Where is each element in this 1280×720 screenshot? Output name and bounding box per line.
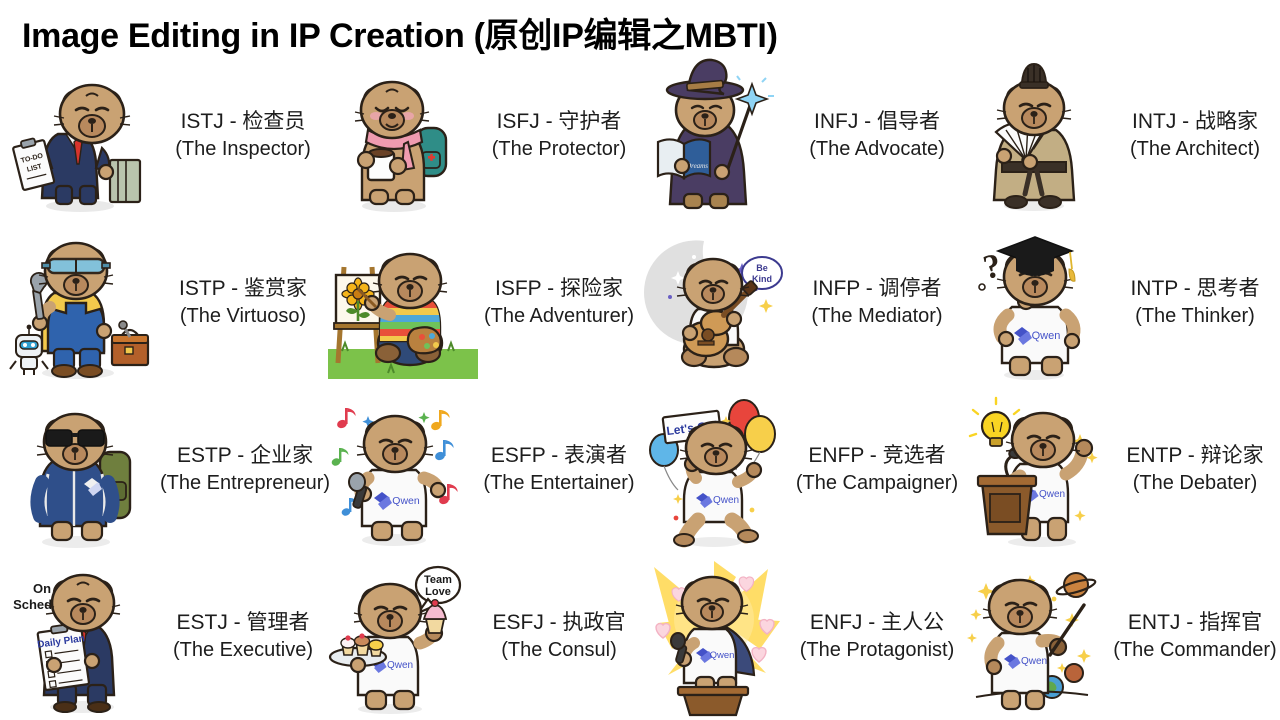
svg-text:?: ? [980, 247, 1004, 287]
svg-text:On: On [33, 581, 51, 596]
card-caption-enfp: ENFP - 竞选者 (The Campaigner) [794, 442, 960, 496]
caption-line-1: INFJ - 倡导者 [794, 108, 960, 136]
scholar-hat-icon [1020, 64, 1048, 88]
svg-text:Qwen: Qwen [710, 650, 735, 661]
card-caption-infp: INFP - 调停者 (The Mediator) [794, 275, 960, 329]
mbti-card-estp[interactable]: ESTP - 企业家 (The Entrepreneur) [0, 386, 320, 553]
wizard-hat-icon [667, 59, 743, 98]
character-art-infp: Be Kind [648, 223, 798, 383]
caption-line-2: (The Mediator) [794, 303, 960, 329]
character-art-estp [8, 390, 158, 550]
character-art-enfj: Qwen [648, 557, 798, 717]
caption-line-2: (The Thinker) [1112, 303, 1278, 329]
question-mark-icon: ? [979, 247, 1004, 290]
card-caption-estp: ESTP - 企业家 (The Entrepreneur) [160, 442, 330, 496]
caption-line-2: (The Protector) [476, 136, 642, 162]
mbti-card-infp[interactable]: Be Kind [640, 219, 960, 386]
card-caption-entj: ENTJ - 指挥官 (The Commander) [1112, 609, 1278, 663]
character-art-intp: ? Qwen [968, 223, 1118, 383]
caption-line-1: ISTJ - 检查员 [160, 108, 326, 136]
mbti-card-istj[interactable]: TO-DO LIST [0, 52, 320, 219]
card-caption-enfj: ENFJ - 主人公 (The Protagonist) [794, 609, 960, 663]
svg-text:Be: Be [756, 263, 768, 273]
card-caption-infj: INFJ - 倡导者 (The Advocate) [794, 108, 960, 162]
card-caption-estj: ESTJ - 管理者 (The Executive) [160, 609, 326, 663]
caption-line-1: INTJ - 战略家 [1112, 108, 1278, 136]
caption-line-2: (The Entertainer) [476, 470, 642, 496]
caption-line-2: (The Protagonist) [794, 637, 960, 663]
caption-line-1: ISFP - 探险家 [476, 275, 642, 303]
caption-line-2: (The Advocate) [794, 136, 960, 162]
card-caption-isfp: ISFP - 探险家 (The Adventurer) [476, 275, 642, 329]
character-art-entj: Qwen [968, 557, 1118, 717]
mbti-card-intj[interactable]: INTJ - 战略家 (The Architect) [960, 52, 1280, 219]
caption-line-2: (The Campaigner) [794, 470, 960, 496]
caption-line-2: (The Debater) [1112, 470, 1278, 496]
poster-root: Image Editing in IP Creation (原创IP编辑之MBT… [0, 0, 1280, 720]
mbti-card-isfj[interactable]: ISFJ - 守护者 (The Protector) [320, 52, 640, 219]
svg-text:Qwen: Qwen [1039, 489, 1065, 500]
character-art-entp: Qwen [968, 390, 1118, 550]
podium-icon [978, 476, 1036, 534]
mbti-grid: TO-DO LIST [0, 52, 1280, 720]
card-caption-isfj: ISFJ - 守护者 (The Protector) [476, 108, 642, 162]
caption-line-1: INFP - 调停者 [794, 275, 960, 303]
mbti-card-enfj[interactable]: Qwen [640, 553, 960, 720]
mbti-card-istp[interactable]: ISTP - 鉴赏家 (The Virtuoso) [0, 219, 320, 386]
svg-text:Qwen: Qwen [1032, 330, 1061, 342]
caption-line-2: (The Entrepreneur) [160, 470, 330, 496]
caption-line-1: ENTJ - 指挥官 [1112, 609, 1278, 637]
card-caption-esfp: ESFP - 表演者 (The Entertainer) [476, 442, 642, 496]
caption-line-2: (The Consul) [476, 637, 642, 663]
caption-line-1: ESTJ - 管理者 [160, 609, 326, 637]
svg-text:Kind: Kind [752, 274, 772, 284]
character-art-istj: TO-DO LIST [8, 56, 158, 216]
card-caption-esfj: ESFJ - 执政官 (The Consul) [476, 609, 642, 663]
caption-line-1: ESFP - 表演者 [476, 442, 642, 470]
character-art-estj: On Schedule Daily Plan [8, 557, 158, 717]
card-caption-intj: INTJ - 战略家 (The Architect) [1112, 108, 1278, 162]
caption-line-2: (The Architect) [1112, 136, 1278, 162]
safety-goggles-icon [42, 259, 110, 273]
mbti-card-esfp[interactable]: Qwen [320, 386, 640, 553]
caption-line-1: ISFJ - 守护者 [476, 108, 642, 136]
caption-line-2: (The Inspector) [160, 136, 326, 162]
card-caption-istp: ISTP - 鉴赏家 (The Virtuoso) [160, 275, 326, 329]
character-art-isfj [328, 56, 478, 216]
caption-line-1: ENTP - 辩论家 [1112, 442, 1278, 470]
paint-palette-icon [408, 327, 441, 353]
svg-text:Qwen: Qwen [1021, 656, 1047, 667]
svg-text:Qwen: Qwen [392, 495, 420, 507]
toolbox-icon [112, 321, 148, 365]
mbti-card-estj[interactable]: On Schedule Daily Plan [0, 553, 320, 720]
caption-line-1: ESFJ - 执政官 [476, 609, 642, 637]
svg-text:Qwen: Qwen [387, 660, 413, 671]
card-caption-entp: ENTP - 辩论家 (The Debater) [1112, 442, 1278, 496]
mbti-card-entj[interactable]: Qwen [960, 553, 1280, 720]
mbti-card-esfj[interactable]: Team Love Qwen [320, 553, 640, 720]
mbti-card-entp[interactable]: Qwen [960, 386, 1280, 553]
character-art-esfj: Team Love Qwen [328, 557, 478, 717]
character-art-isfp [328, 223, 478, 383]
card-caption-intp: INTP - 思考者 (The Thinker) [1112, 275, 1278, 329]
card-caption-istj: ISTJ - 检查员 (The Inspector) [160, 108, 326, 162]
mbti-card-enfp[interactable]: Let's Go! Qwen [640, 386, 960, 553]
character-art-istp [8, 223, 158, 383]
caption-line-1: ENFJ - 主人公 [794, 609, 960, 637]
caption-line-2: (The Commander) [1112, 637, 1278, 663]
caption-line-2: (The Adventurer) [476, 303, 642, 329]
caption-line-2: (The Virtuoso) [160, 303, 326, 329]
mbti-card-infj[interactable]: Dreams [640, 52, 960, 219]
caption-line-1: ENFP - 竞选者 [794, 442, 960, 470]
books-icon [110, 160, 140, 202]
svg-text:Qwen: Qwen [713, 495, 739, 506]
mbti-card-isfp[interactable]: ISFP - 探险家 (The Adventurer) [320, 219, 640, 386]
caption-line-2: (The Executive) [160, 637, 326, 663]
character-art-esfp: Qwen [328, 390, 478, 550]
mbti-card-intp[interactable]: ? Qwen [960, 219, 1280, 386]
character-art-intj [968, 56, 1118, 216]
character-art-enfp: Let's Go! Qwen [648, 390, 798, 550]
svg-text:Team: Team [424, 574, 452, 586]
page-title: Image Editing in IP Creation (原创IP编辑之MBT… [22, 8, 778, 57]
caption-line-1: ISTP - 鉴赏家 [160, 275, 326, 303]
caption-line-1: INTP - 思考者 [1112, 275, 1278, 303]
daily-plan-clipboard-icon: Daily Plan [35, 622, 91, 690]
character-art-infj: Dreams [648, 56, 798, 216]
svg-text:Love: Love [425, 586, 451, 598]
caption-line-1: ESTP - 企业家 [160, 442, 330, 470]
podium-icon [678, 687, 748, 715]
saturn-icon [1055, 573, 1096, 597]
